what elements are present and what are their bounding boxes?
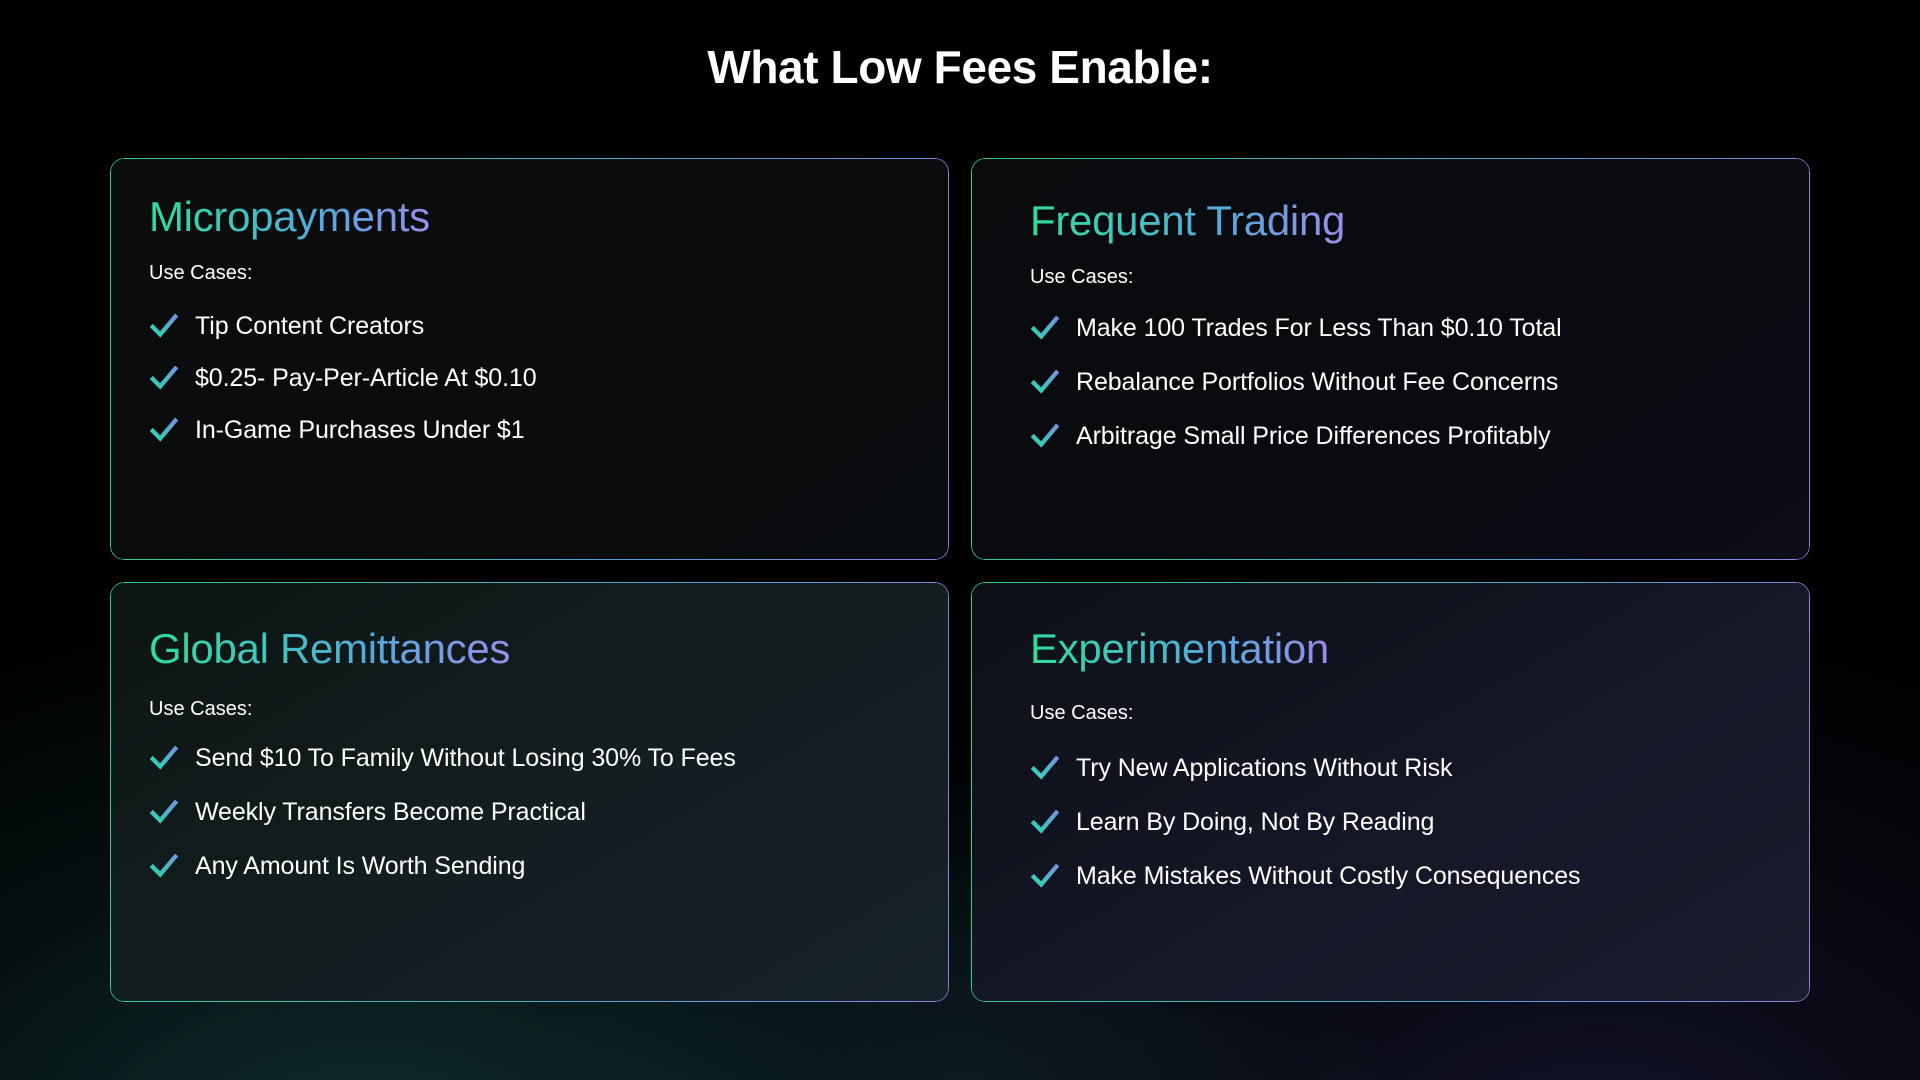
card-experimentation: Experimentation Use Cases: Try New Appli…	[971, 582, 1810, 1002]
list-item: Weekly Transfers Become Practical	[149, 797, 910, 827]
page-title: What Low Fees Enable:	[0, 40, 1920, 94]
check-icon	[149, 743, 179, 773]
list-item-label: $0.25- Pay-Per-Article At $0.10	[195, 364, 537, 393]
check-icon	[1030, 367, 1060, 397]
list-item-label: Send $10 To Family Without Losing 30% To…	[195, 744, 736, 773]
check-icon	[149, 797, 179, 827]
check-icon	[1030, 753, 1060, 783]
list-item-label: Make 100 Trades For Less Than $0.10 Tota…	[1076, 314, 1562, 343]
list-item-label: Try New Applications Without Risk	[1076, 754, 1452, 783]
list-item-label: Learn By Doing, Not By Reading	[1076, 808, 1434, 837]
use-case-list: Make 100 Trades For Less Than $0.10 Tota…	[1030, 313, 1771, 451]
check-icon	[1030, 313, 1060, 343]
cards-grid: Micropayments Use Cases: Tip Content Cre…	[110, 158, 1810, 1002]
list-item: Make 100 Trades For Less Than $0.10 Tota…	[1030, 313, 1771, 343]
check-icon	[149, 363, 179, 393]
list-item: Arbitrage Small Price Differences Profit…	[1030, 421, 1771, 451]
check-icon	[149, 851, 179, 881]
list-item: Learn By Doing, Not By Reading	[1030, 807, 1771, 837]
use-cases-label: Use Cases:	[149, 262, 910, 285]
list-item: Tip Content Creators	[149, 311, 910, 341]
use-case-list: Tip Content Creators $0.25- Pay-Per-Arti…	[149, 311, 910, 445]
use-cases-label: Use Cases:	[1030, 266, 1771, 289]
slide-root: What Low Fees Enable: Micropayments Use …	[0, 0, 1920, 1080]
list-item: In-Game Purchases Under $1	[149, 415, 910, 445]
check-icon	[1030, 807, 1060, 837]
check-icon	[149, 311, 179, 341]
list-item-label: Weekly Transfers Become Practical	[195, 798, 586, 827]
list-item-label: In-Game Purchases Under $1	[195, 416, 525, 445]
card-heading: Global Remittances	[149, 625, 510, 672]
list-item-label: Rebalance Portfolios Without Fee Concern…	[1076, 368, 1558, 397]
card-global-remittances: Global Remittances Use Cases: Send $10 T…	[110, 582, 949, 1002]
check-icon	[1030, 861, 1060, 891]
use-cases-label: Use Cases:	[149, 698, 910, 721]
list-item: Rebalance Portfolios Without Fee Concern…	[1030, 367, 1771, 397]
list-item-label: Any Amount Is Worth Sending	[195, 852, 525, 881]
use-cases-label: Use Cases:	[1030, 702, 1771, 725]
list-item: Try New Applications Without Risk	[1030, 753, 1771, 783]
card-heading: Micropayments	[149, 193, 430, 240]
list-item: Any Amount Is Worth Sending	[149, 851, 910, 881]
use-case-list: Try New Applications Without Risk Learn …	[1030, 753, 1771, 891]
card-heading: Experimentation	[1030, 625, 1329, 672]
check-icon	[149, 415, 179, 445]
list-item: $0.25- Pay-Per-Article At $0.10	[149, 363, 910, 393]
use-case-list: Send $10 To Family Without Losing 30% To…	[149, 743, 910, 881]
list-item: Make Mistakes Without Costly Consequence…	[1030, 861, 1771, 891]
list-item-label: Arbitrage Small Price Differences Profit…	[1076, 422, 1551, 451]
list-item-label: Tip Content Creators	[195, 312, 424, 341]
check-icon	[1030, 421, 1060, 451]
card-heading: Frequent Trading	[1030, 197, 1345, 244]
list-item: Send $10 To Family Without Losing 30% To…	[149, 743, 910, 773]
list-item-label: Make Mistakes Without Costly Consequence…	[1076, 862, 1580, 891]
card-micropayments: Micropayments Use Cases: Tip Content Cre…	[110, 158, 949, 560]
card-frequent-trading: Frequent Trading Use Cases: Make 100 Tra…	[971, 158, 1810, 560]
